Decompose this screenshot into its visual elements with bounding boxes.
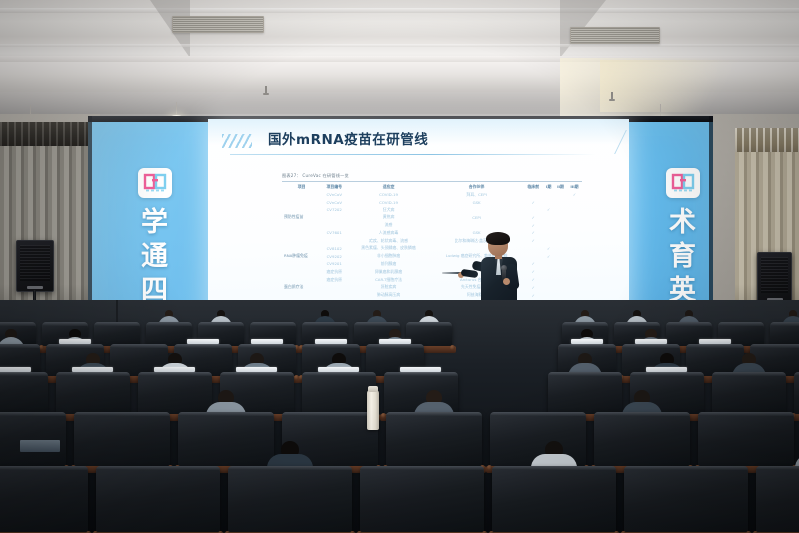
table-cell: ✓ <box>523 221 543 229</box>
table-cell <box>282 260 321 268</box>
table-cell <box>321 221 347 229</box>
seat-placard <box>571 339 603 344</box>
table-cell <box>523 191 543 199</box>
col-phase2: II期 <box>554 183 567 191</box>
table-cell: RNA肿瘤免疫 <box>282 252 321 260</box>
seat-placard <box>236 367 277 372</box>
table-cell <box>554 283 567 291</box>
table-cell: 疟疾、轮状病毒、流感 <box>347 237 430 245</box>
table-cell <box>282 229 321 237</box>
curtain-pelmet-left <box>0 122 100 148</box>
table-cell: 非小细胞肺癌 <box>347 252 430 260</box>
table-cell <box>567 276 582 284</box>
table-cell: 黑色素瘤、头颈鳞癌、皮肤鳞癌 <box>347 245 430 253</box>
table-row: CV8102黑色素瘤、头颈鳞癌、皮肤鳞癌✓ <box>282 245 582 253</box>
table-cell: 蛋白质疗法 <box>282 283 321 291</box>
auditorium-seat <box>138 372 212 416</box>
table-cell <box>282 276 321 284</box>
table-cell: 黄热病 <box>347 213 430 221</box>
slide-table-block: 图表27： CureVac 在研管线一览 项目 项目编号 适应症 合作伙伴 临床… <box>282 173 582 315</box>
seat-placard <box>318 367 359 372</box>
auditorium-seat <box>698 412 794 468</box>
table-cell: 人流感病毒 <box>347 229 430 237</box>
auditorium-seat <box>228 466 352 533</box>
auditorium-seat <box>548 372 622 416</box>
table-cell <box>543 213 554 221</box>
seat-placard <box>72 367 113 372</box>
table-cell <box>567 245 582 253</box>
table-cell <box>554 260 567 268</box>
col-phase3: III期 <box>567 183 582 191</box>
seat-placard <box>251 339 283 344</box>
sprinkler-icon <box>265 86 267 95</box>
table-cell <box>543 283 554 291</box>
table-cell <box>554 245 567 253</box>
table-cell: ✓ <box>523 199 543 206</box>
auditorium-seat <box>624 466 748 533</box>
ceiling-beam <box>0 8 799 13</box>
seat-placard <box>0 367 31 372</box>
table-cell: 拜耳、CEPI <box>430 191 523 199</box>
presenter-right-hand <box>503 278 510 285</box>
auditorium-seat <box>492 466 616 533</box>
seat-placard <box>59 339 91 344</box>
table-cell <box>543 199 554 206</box>
table-cell <box>554 252 567 260</box>
col-project-code: 项目编号 <box>321 183 347 191</box>
institute-logo-icon <box>666 168 700 198</box>
seat-placard <box>187 339 219 344</box>
seat-placard <box>154 367 195 372</box>
seat-placard <box>699 339 731 344</box>
auditorium-seat <box>74 412 170 468</box>
table-caption: 图表27： CureVac 在研管线一览 <box>282 173 582 179</box>
table-cell: ✓ <box>543 206 554 214</box>
table-cell: CV7202 <box>321 206 347 214</box>
auditorium-seat <box>0 466 88 533</box>
table-row: CV7202狂犬病✓ <box>282 206 582 214</box>
table-cell: 狂犬病 <box>347 206 430 214</box>
auditorium-seat <box>96 466 220 533</box>
table-cell <box>543 276 554 284</box>
institute-logo-icon <box>138 168 172 198</box>
table-cell: ✓ <box>523 213 543 221</box>
table-cell <box>543 237 554 245</box>
ceiling-beam <box>0 44 799 47</box>
table-cell <box>567 252 582 260</box>
table-cell <box>282 237 321 245</box>
table-row: 流感✓ <box>282 221 582 229</box>
table-row: CVnCoVCOVID-19GSK✓ <box>282 199 582 206</box>
table-row: CV7601人流感病毒GSK✓ <box>282 229 582 237</box>
seat-placard <box>315 339 347 344</box>
ceiling <box>0 0 799 122</box>
table-cell <box>543 260 554 268</box>
air-vent-icon <box>570 27 660 44</box>
table-cell <box>567 260 582 268</box>
pendant-light <box>176 102 177 116</box>
col-preclinical: 临床前 <box>523 183 543 191</box>
table-cell: 流感 <box>347 221 430 229</box>
sprinkler-icon <box>611 92 613 101</box>
table-cell: COVID-19 <box>347 199 430 206</box>
table-row: 癌症抗原CAR-T细胞疗法Arcturus 合作项目✓ <box>282 276 582 284</box>
table-cell: CAR-T细胞疗法 <box>347 276 430 284</box>
seat-placard <box>400 367 441 372</box>
table-cell: ✓ <box>567 191 582 199</box>
slide-hatch-decoration <box>222 134 252 148</box>
laptop <box>20 440 60 452</box>
table-cell <box>543 191 554 199</box>
slide-title-underline <box>230 154 596 155</box>
auditorium-seat <box>386 412 482 468</box>
auditorium-seat <box>756 466 799 533</box>
table-cell <box>554 291 567 299</box>
col-indication: 适应症 <box>347 183 430 191</box>
table-cell <box>554 206 567 214</box>
table-cell <box>543 291 554 299</box>
table-cell <box>321 291 347 299</box>
banner-char: 通 <box>122 240 188 274</box>
table-cell: ✓ <box>543 252 554 260</box>
table-cell: 卵巢癌和乳腺癌 <box>347 268 430 276</box>
table-header-row: 项目 项目编号 适应症 合作伙伴 临床前 I期 II期 III期 <box>282 183 582 191</box>
table-cell <box>430 221 523 229</box>
table-cell <box>321 213 347 221</box>
table-cell <box>321 283 347 291</box>
table-cell <box>554 213 567 221</box>
slide-title-bar: 国外mRNA疫苗在研管线 <box>222 128 616 156</box>
projected-slide: 国外mRNA疫苗在研管线 图表27： CureVac 在研管线一览 项目 项目编… <box>208 119 629 327</box>
table-cell <box>554 268 567 276</box>
table-cell: 癌症抗原 <box>321 276 347 284</box>
table-cell: ✓ <box>543 245 554 253</box>
table-cell <box>543 221 554 229</box>
table-cell: COVID-19 <box>347 191 430 199</box>
table-row: 疟疾、轮状病毒、流感比尔和梅琳达·盖茨基金会✓ <box>282 237 582 245</box>
pa-speaker-right <box>757 252 792 304</box>
table-cell <box>282 199 321 206</box>
table-cell <box>567 268 582 276</box>
banner-char: 术 <box>650 206 716 240</box>
table-cell: CEPI <box>430 213 523 221</box>
table-body: CVnCoVCOVID-19拜耳、CEPI✓CVnCoVCOVID-19GSK✓… <box>282 191 582 307</box>
table-cell <box>282 191 321 199</box>
table-cell: 癌症抗原 <box>321 268 347 276</box>
table-cell: CV7601 <box>321 229 347 237</box>
table-row: 预防性疫苗黄热病CEPI✓ <box>282 213 582 221</box>
table-row: CVnCoVCOVID-19拜耳、CEPI✓ <box>282 191 582 199</box>
table-cell <box>567 213 582 221</box>
table-cell <box>567 291 582 299</box>
table-row: 蛋白质疗法肝脏疾病先天性免疫缺陷症✓ <box>282 283 582 291</box>
table-cell <box>543 229 554 237</box>
table-cell <box>567 237 582 245</box>
table-cell: 肺动脉高压病 <box>347 291 430 299</box>
ceiling-light-glow <box>600 60 770 112</box>
table-cell <box>567 199 582 206</box>
col-project: 项目 <box>282 183 321 191</box>
table-cell <box>554 221 567 229</box>
table-cell: CV9202 <box>321 252 347 260</box>
table-cell <box>554 199 567 206</box>
col-phase1: I期 <box>543 183 554 191</box>
seat-placard <box>635 339 667 344</box>
table-cell <box>567 229 582 237</box>
table-cell <box>282 245 321 253</box>
table-row: 肺动脉高压病阿兹海默症✓ <box>282 291 582 299</box>
col-partner: 合作伙伴 <box>430 183 523 191</box>
auditorium-seat <box>360 466 484 533</box>
table-cell <box>554 237 567 245</box>
seat-placard <box>379 339 411 344</box>
table-cell <box>282 268 321 276</box>
presenter-hair <box>486 232 510 245</box>
table-cell <box>282 221 321 229</box>
table-cell: 肝脏疾病 <box>347 283 430 291</box>
table-cell: CVnCoV <box>321 191 347 199</box>
table-cell <box>567 283 582 291</box>
table-cell <box>523 206 543 214</box>
pipeline-table: 项目 项目编号 适应症 合作伙伴 临床前 I期 II期 III期 CVnCoVC… <box>282 183 582 307</box>
auditorium-seat <box>178 412 274 468</box>
curtain-pelmet-right <box>735 128 799 154</box>
table-cell: GSK <box>430 199 523 206</box>
seat-placard <box>646 367 687 372</box>
table-cell: 预防性疫苗 <box>282 213 321 221</box>
auditorium-seat <box>0 372 48 416</box>
table-cell <box>430 206 523 214</box>
thermos-bottle <box>367 390 379 430</box>
banner-char: 育 <box>650 240 716 274</box>
auditorium-seat <box>794 372 799 416</box>
table-cell: CV8102 <box>321 245 347 253</box>
banner-char: 学 <box>122 206 188 240</box>
table-cell <box>282 206 321 214</box>
lecture-hall-photo: 学 通 四 海 术 育 英 才 <box>0 0 799 533</box>
auditorium-seat <box>56 372 130 416</box>
table-cell <box>567 221 582 229</box>
slide-title: 国外mRNA疫苗在研管线 <box>268 128 428 148</box>
auditorium-seat <box>302 372 376 416</box>
table-cell: CVnCoV <box>321 199 347 206</box>
table-cell <box>543 268 554 276</box>
table-cell <box>554 191 567 199</box>
table-cell <box>321 237 347 245</box>
auditorium-seat <box>594 412 690 468</box>
table-cell: CV9201 <box>321 260 347 268</box>
pa-speaker-left <box>16 240 54 292</box>
table-cell: 前列腺癌 <box>347 260 430 268</box>
table-cell <box>567 206 582 214</box>
auditorium-seat <box>712 372 786 416</box>
air-vent-icon <box>172 16 264 33</box>
table-row: 癌症抗原卵巢癌和乳腺癌✓ <box>282 268 582 276</box>
table-cell <box>554 229 567 237</box>
table-cell <box>282 291 321 299</box>
table-row: RNA肿瘤免疫CV9202非小细胞肺癌Ludwig 癌症研究所、勃林格殷格翰✓ <box>282 252 582 260</box>
table-cell <box>554 276 567 284</box>
table-row: CV9201前列腺癌✓ <box>282 260 582 268</box>
